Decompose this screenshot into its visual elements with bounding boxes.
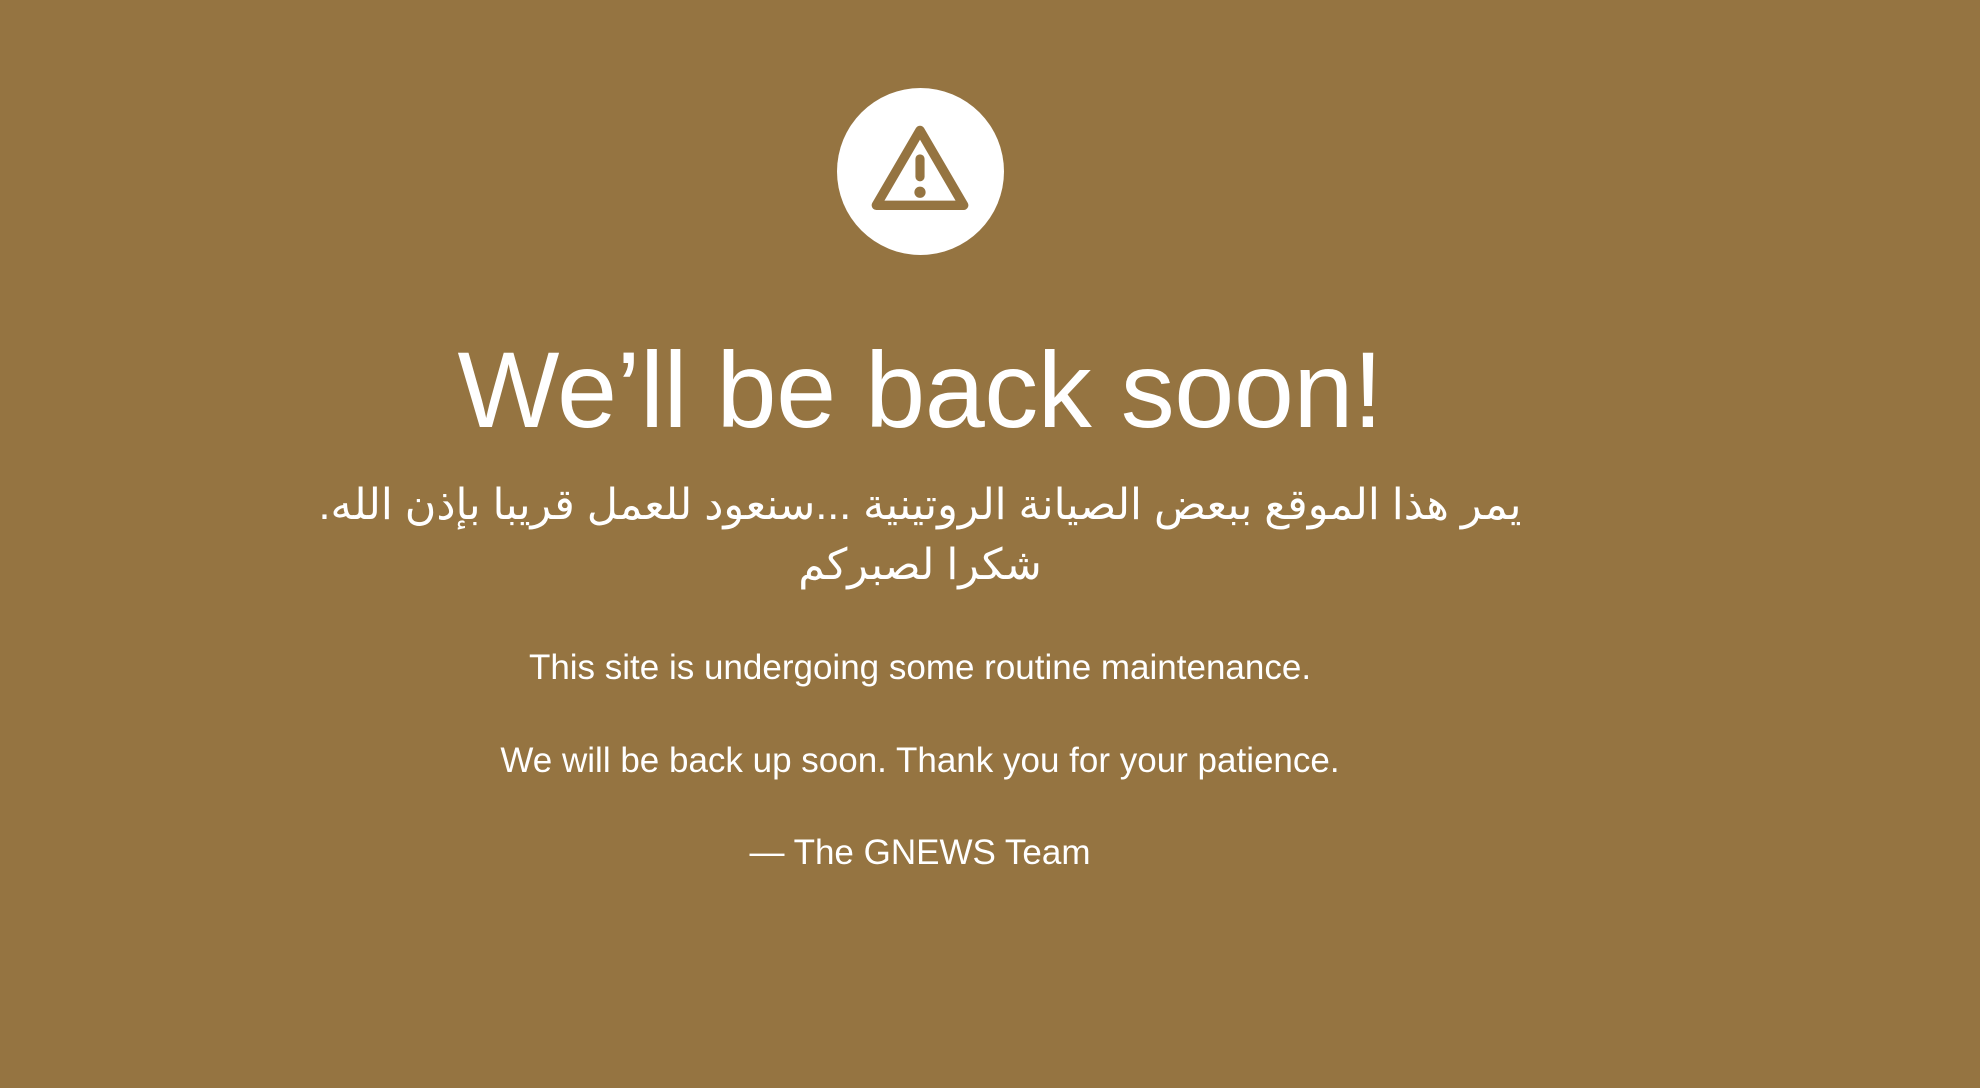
warning-icon-block <box>837 88 1004 255</box>
arabic-message-line-2: شكرا لصبركم <box>20 536 1820 595</box>
warning-triangle-icon <box>868 120 972 224</box>
page-title: We’ll be back soon! <box>457 333 1382 446</box>
return-notice-text: We will be back up soon. Thank you for y… <box>500 738 1339 784</box>
warning-badge <box>837 88 1004 255</box>
arabic-message-line-1: يمر هذا الموقع ببعض الصيانة الروتينية ..… <box>20 476 1820 535</box>
maintenance-notice-text: This site is undergoing some routine mai… <box>529 645 1311 691</box>
maintenance-page: We’ll be back soon! يمر هذا الموقع ببعض … <box>0 0 1980 1088</box>
team-signature: — The GNEWS Team <box>749 830 1090 876</box>
maintenance-content: We’ll be back soon! يمر هذا الموقع ببعض … <box>0 0 1840 1088</box>
arabic-message: يمر هذا الموقع ببعض الصيانة الروتينية ..… <box>20 476 1820 595</box>
